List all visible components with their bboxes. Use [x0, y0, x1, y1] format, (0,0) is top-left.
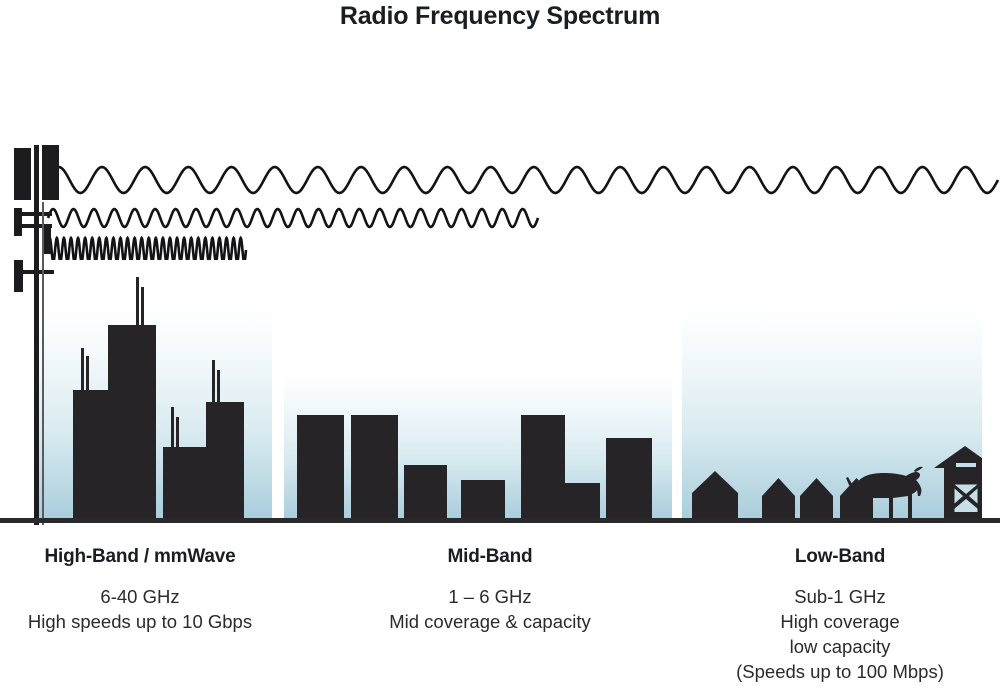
band-frequency-low: Sub-1 GHz	[680, 584, 1000, 609]
band-frequency-high: 6-40 GHz	[0, 584, 280, 609]
building-mid-3	[461, 480, 505, 520]
building-high-3	[163, 447, 206, 520]
building-mid-0	[297, 415, 344, 520]
antenna-spire-3-1	[176, 417, 179, 447]
caption-high-band: High-Band / mmWave 6-40 GHz High speeds …	[0, 546, 280, 634]
antenna-spire-0-1	[86, 356, 89, 390]
antenna-spire-4-1	[217, 370, 220, 402]
band-capacity-low: low capacity	[680, 634, 1000, 659]
building-high-4	[206, 402, 244, 520]
building-mid-6	[606, 438, 652, 520]
band-title-low: Low-Band	[680, 546, 1000, 568]
building-mid-2	[404, 465, 447, 520]
barn-silhouette	[934, 446, 982, 518]
antenna-spire-4-0	[212, 360, 215, 402]
band-description-mid: Mid coverage & capacity	[340, 609, 640, 634]
band-description-high: High speeds up to 10 Gbps	[0, 609, 280, 634]
building-high-2	[108, 325, 156, 520]
antenna-spire-2-1	[141, 287, 144, 325]
band-coverage-low: High coverage	[680, 609, 1000, 634]
antenna-spire-2-0	[136, 277, 139, 325]
band-speed-low: (Speeds up to 100 Mbps)	[680, 659, 1000, 684]
building-high-0	[73, 390, 108, 520]
building-mid-1	[351, 415, 398, 520]
caption-mid-band: Mid-Band 1 – 6 GHz Mid coverage & capaci…	[340, 546, 640, 634]
cow-silhouette	[846, 467, 923, 518]
ground-baseline	[0, 518, 1000, 523]
building-mid-4	[521, 415, 565, 520]
spectrum-scene	[0, 0, 1000, 540]
band-frequency-mid: 1 – 6 GHz	[340, 584, 640, 609]
building-mid-5	[565, 483, 600, 520]
antenna-spire-3-0	[171, 407, 174, 447]
antenna-spire-0-0	[81, 348, 84, 390]
band-title-high: High-Band / mmWave	[0, 546, 280, 568]
infographic-canvas: Radio Frequency Spectrum	[0, 0, 1000, 700]
rural-silhouette-group	[682, 430, 982, 520]
caption-low-band: Low-Band Sub-1 GHz High coverage low cap…	[680, 546, 1000, 684]
band-title-mid: Mid-Band	[340, 546, 640, 568]
